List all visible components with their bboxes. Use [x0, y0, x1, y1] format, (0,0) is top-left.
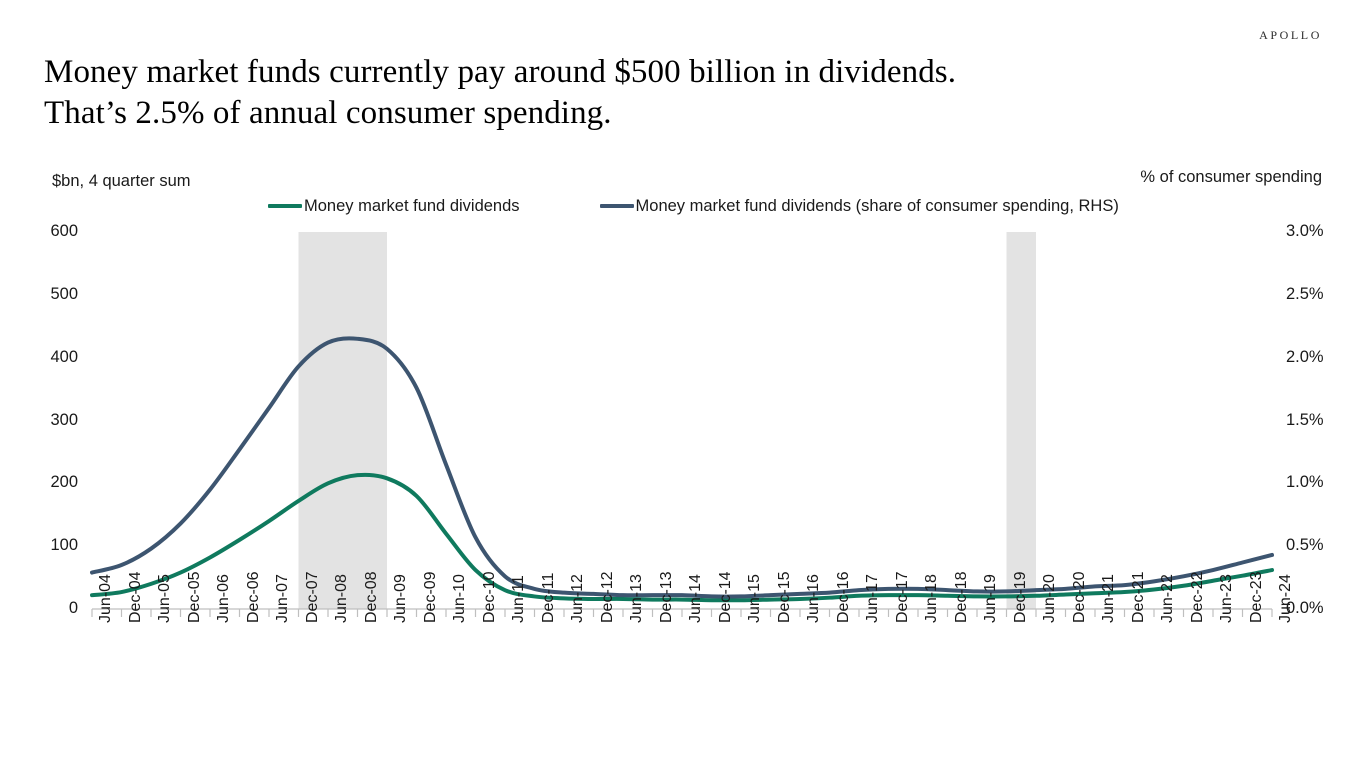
x-axis-tick-label: Jun-19: [983, 574, 999, 623]
x-axis-tick-label: Jun-16: [806, 574, 822, 623]
y-axis-tick-label-right: 3.0%: [1286, 223, 1324, 240]
x-axis-tick-label: Dec-14: [718, 571, 734, 623]
x-axis-tick-label: Jun-18: [924, 574, 940, 623]
x-axis-tick-label: Dec-19: [1013, 571, 1029, 623]
x-axis-tick-label: Dec-21: [1131, 571, 1147, 623]
x-axis-tick-label: Dec-20: [1072, 571, 1088, 623]
x-axis-tick-label: Jun-24: [1278, 574, 1294, 623]
x-axis-tick-label: Jun-07: [275, 574, 291, 623]
y-axis-tick-label-right: 2.5%: [1286, 286, 1324, 303]
x-axis-tick-label: Jun-06: [216, 574, 232, 623]
x-axis-tick-label: Jun-11: [511, 575, 527, 623]
x-axis-tick-label: Jun-22: [1160, 574, 1176, 623]
x-axis-tick-label: Dec-18: [954, 571, 970, 623]
x-axis-tick-label: Jun-10: [452, 574, 468, 623]
recession-band-1: [299, 232, 388, 609]
series-line-dividends: [92, 475, 1272, 600]
x-axis-tick-label: Jun-20: [1042, 574, 1058, 623]
y-axis-tick-label-right: 0.5%: [1286, 537, 1324, 554]
x-axis-tick-label: Dec-23: [1249, 571, 1265, 623]
series-line-share: [92, 338, 1272, 596]
x-axis-tick-label: Jun-05: [157, 574, 173, 623]
x-axis-tick-label: Dec-15: [777, 571, 793, 623]
x-axis-tick-label: Dec-07: [305, 571, 321, 623]
x-axis-tick-label: Dec-10: [482, 571, 498, 623]
x-axis-tick-label: Jun-09: [393, 574, 409, 623]
x-axis-tick-label: Jun-15: [747, 574, 763, 623]
y-axis-tick-label-left: 100: [50, 537, 78, 554]
x-axis-tick-label: Jun-14: [688, 574, 704, 623]
y-axis-tick-label-left: 400: [50, 349, 78, 366]
x-axis-tick-label: Jun-12: [570, 574, 586, 623]
line-chart-canvas: [0, 0, 1366, 768]
x-axis-tick-label: Jun-04: [98, 574, 114, 623]
y-axis-tick-label-left: 600: [50, 223, 78, 240]
x-axis-tick-label: Jun-13: [629, 574, 645, 623]
y-axis-tick-label-left: 300: [50, 412, 78, 429]
x-axis-tick-label: Dec-09: [423, 571, 439, 623]
x-axis-tick-label: Jun-08: [334, 574, 350, 623]
x-axis-tick-label: Dec-05: [187, 571, 203, 623]
recession-band-2: [1007, 232, 1037, 609]
x-axis-tick-label: Dec-11: [541, 573, 557, 623]
y-axis-tick-label-right: 1.5%: [1286, 412, 1324, 429]
y-axis-tick-label-left: 0: [69, 600, 78, 617]
y-axis-tick-label-left: 200: [50, 474, 78, 491]
x-axis-tick-label: Dec-12: [600, 571, 616, 623]
x-axis-tick-label: Dec-04: [128, 571, 144, 623]
x-axis-tick-label: Dec-06: [246, 571, 262, 623]
x-axis-tick-label: Dec-13: [659, 571, 675, 623]
x-axis-tick-label: Dec-08: [364, 571, 380, 623]
y-axis-tick-label-left: 500: [50, 286, 78, 303]
x-axis-tick-label: Jun-21: [1101, 574, 1117, 623]
x-axis-tick-label: Dec-17: [895, 571, 911, 623]
x-axis-tick-label: Dec-22: [1190, 571, 1206, 623]
y-axis-tick-label-right: 1.0%: [1286, 474, 1324, 491]
x-axis-tick-label: Jun-23: [1219, 574, 1235, 623]
x-axis-tick-label: Jun-17: [865, 574, 881, 623]
y-axis-tick-label-right: 2.0%: [1286, 349, 1324, 366]
chart-page: APOLLO Money market funds currently pay …: [0, 0, 1366, 768]
x-axis-tick-label: Dec-16: [836, 571, 852, 623]
